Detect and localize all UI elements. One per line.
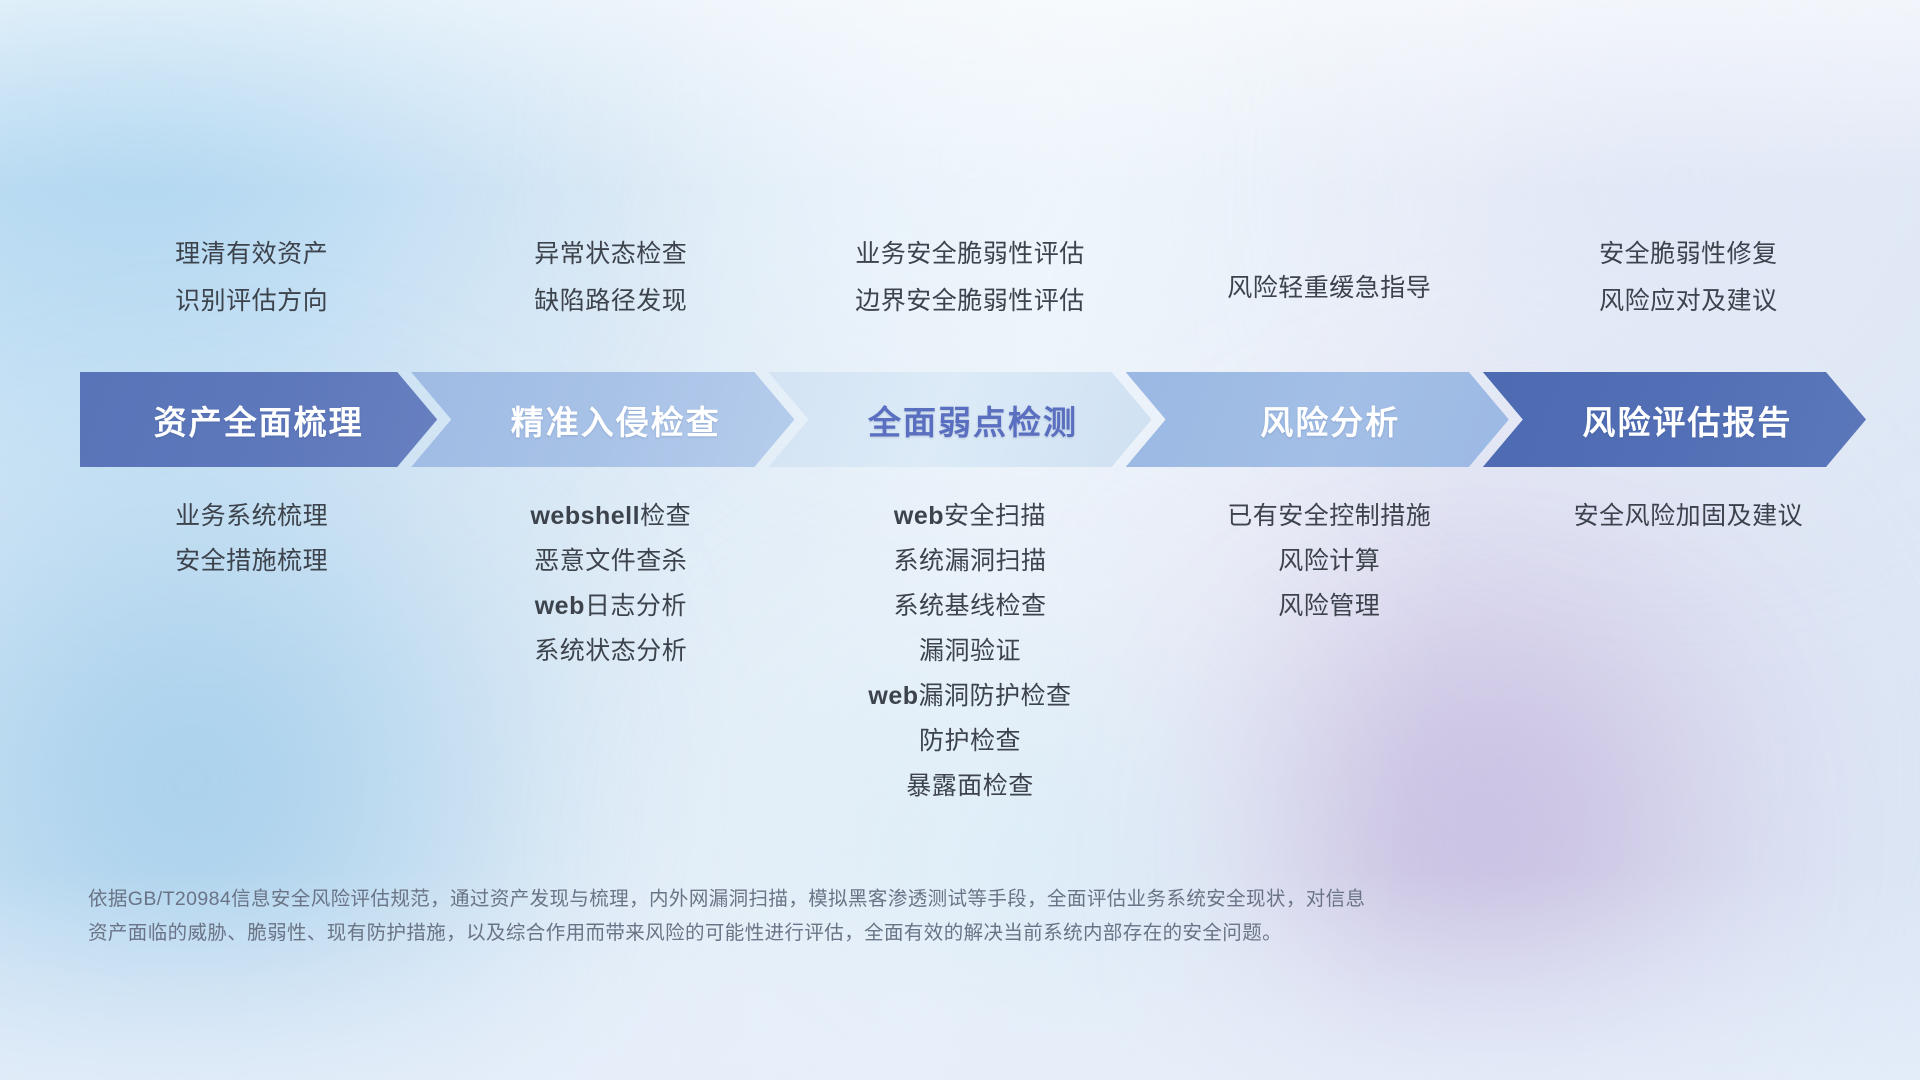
top-notes-row: 理清有效资产识别评估方向异常状态检查缺陷路径发现业务安全脆弱性评估边界安全脆弱性… [72,238,1868,318]
bottom-item: 暴露面检查 [906,770,1034,803]
bottom-item: 业务系统梳理 [175,500,328,533]
bottom-item: webshell检查 [530,500,691,533]
bottom-item: web安全扫描 [894,500,1046,533]
top-notes-column-5: 安全脆弱性修复风险应对及建议 [1509,238,1868,318]
top-note: 安全脆弱性修复 [1599,238,1778,271]
top-notes-column-3: 业务安全脆弱性评估边界安全脆弱性评估 [790,238,1149,318]
top-note: 异常状态检查 [534,238,687,271]
footer-line-2: 资产面临的威胁、脆弱性、现有防护措施，以及综合作用而带来风险的可能性进行评估，全… [88,916,1618,950]
top-note: 缺陷路径发现 [534,285,687,318]
stage-arrow-label: 全面弱点检测 [868,396,1078,444]
process-diagram: 理清有效资产识别评估方向异常状态检查缺陷路径发现业务安全脆弱性评估边界安全脆弱性… [0,0,1920,1080]
bottom-item: 系统状态分析 [534,635,687,668]
stage-arrow-1[interactable]: 资产全面梳理 [80,372,437,467]
top-note: 识别评估方向 [175,285,328,318]
top-notes-column-4: 风险轻重缓急指导 [1150,238,1509,318]
stage-arrow-4[interactable]: 风险分析 [1126,372,1509,467]
footer-description: 依据GB/T20984信息安全风险评估规范，通过资产发现与梳理，内外网漏洞扫描，… [88,882,1618,950]
bottom-item: 漏洞验证 [919,635,1021,668]
bottom-item: 恶意文件查杀 [534,545,687,578]
stage-arrow-label: 风险分析 [1260,396,1400,444]
bottom-item: 已有安全控制措施 [1227,500,1431,533]
top-note: 边界安全脆弱性评估 [855,285,1085,318]
bottom-items-column-2: webshell检查恶意文件查杀web日志分析系统状态分析 [431,500,790,803]
bottom-items-column-3: web安全扫描系统漏洞扫描系统基线检查漏洞验证web漏洞防护检查防护检查暴露面检… [790,500,1149,803]
stage-arrow-label: 资产全面梳理 [154,396,364,444]
stage-arrow-3[interactable]: 全面弱点检测 [768,372,1151,467]
bottom-items-column-1: 业务系统梳理安全措施梳理 [72,500,431,803]
stage-arrow-band: 资产全面梳理精准入侵检查全面弱点检测风险分析风险评估报告 [80,372,1840,467]
top-note: 理清有效资产 [175,238,328,271]
bottom-items-row: 业务系统梳理安全措施梳理webshell检查恶意文件查杀web日志分析系统状态分… [72,500,1868,803]
bottom-item: 系统漏洞扫描 [893,545,1046,578]
top-note: 风险应对及建议 [1599,285,1778,318]
top-note: 风险轻重缓急指导 [1227,272,1431,305]
stage-arrow-label: 精准入侵检查 [511,396,721,444]
bottom-item: 安全风险加固及建议 [1574,500,1804,533]
bottom-items-column-5: 安全风险加固及建议 [1509,500,1868,803]
top-note: 业务安全脆弱性评估 [855,238,1085,271]
top-notes-column-2: 异常状态检查缺陷路径发现 [431,238,790,318]
bottom-items-column-4: 已有安全控制措施风险计算风险管理 [1150,500,1509,803]
bottom-item: 系统基线检查 [893,590,1046,623]
top-notes-column-1: 理清有效资产识别评估方向 [72,238,431,318]
footer-line-1: 依据GB/T20984信息安全风险评估规范，通过资产发现与梳理，内外网漏洞扫描，… [88,882,1618,916]
stage-arrow-5[interactable]: 风险评估报告 [1483,372,1866,467]
bottom-item: 安全措施梳理 [175,545,328,578]
bottom-item: 风险管理 [1278,590,1380,623]
bottom-item: web漏洞防护检查 [868,680,1071,713]
bottom-item: 防护检查 [919,725,1021,758]
stage-arrow-2[interactable]: 精准入侵检查 [411,372,794,467]
bottom-item: web日志分析 [535,590,687,623]
bottom-item: 风险计算 [1278,545,1380,578]
stage-arrow-label: 风险评估报告 [1582,396,1792,444]
